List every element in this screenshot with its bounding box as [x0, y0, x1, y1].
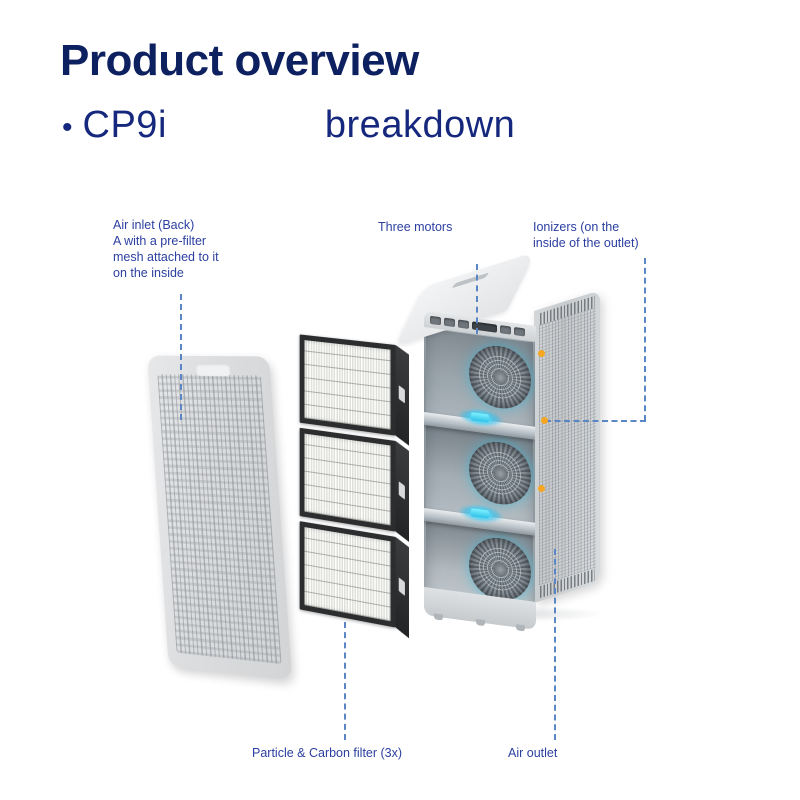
leader-line-air-outlet — [554, 549, 556, 740]
callout-ionizers: Ionizers (on the inside of the outlet) — [533, 219, 698, 251]
perforated-side-panel-air-outlet — [534, 290, 600, 603]
pre-filter-mesh — [157, 374, 281, 664]
side-vent-top — [540, 296, 595, 325]
filter-side-tab — [399, 481, 405, 499]
callout-air-outlet: Air outlet — [508, 745, 628, 761]
air-inlet-back-panel — [147, 356, 292, 681]
filter-cartridge — [300, 521, 396, 627]
leader-line-ionizers-horizontal — [545, 420, 646, 422]
filter-media — [305, 527, 391, 621]
product-exploded-diagram — [0, 0, 800, 800]
top-vent-slot — [514, 327, 525, 336]
leader-line-motors — [476, 264, 478, 334]
unit-foot — [516, 624, 525, 631]
top-vent-slot — [458, 320, 469, 329]
ionizer-marker-dot — [538, 485, 545, 492]
leader-line-ionizers-vertical — [644, 258, 646, 421]
filter-side-tab — [399, 577, 405, 596]
top-vent-slot — [444, 318, 455, 327]
filter-side-face — [396, 345, 409, 446]
callout-particle-carbon-filter: Particle & Carbon filter (3x) — [252, 745, 482, 761]
back-panel-handle — [195, 363, 230, 376]
callout-air-inlet: Air inlet (Back) A with a pre-filter mes… — [113, 217, 293, 281]
filter-side-face — [396, 537, 409, 639]
unit-interior-front — [424, 314, 535, 621]
filter-cartridge — [300, 334, 396, 435]
top-vent-slot — [430, 316, 441, 325]
ionizer-marker-dot — [541, 417, 548, 424]
top-logo — [451, 272, 489, 288]
leader-line-filter — [344, 622, 346, 740]
top-vent-slot — [500, 325, 511, 334]
leader-line-air-inlet — [180, 294, 182, 420]
side-vent-bottom — [540, 569, 595, 598]
callout-three-motors: Three motors — [378, 219, 508, 235]
purifier-main-body — [424, 287, 599, 612]
unit-foot — [476, 619, 485, 626]
filter-media — [305, 340, 391, 430]
unit-foot — [434, 613, 443, 620]
ionizer-marker-dot — [538, 350, 545, 357]
filter-side-tab — [399, 385, 405, 403]
filter-side-face — [396, 441, 409, 542]
particle-carbon-filter-stack — [300, 334, 396, 627]
filter-cartridge — [300, 428, 396, 532]
filter-media — [305, 434, 391, 526]
